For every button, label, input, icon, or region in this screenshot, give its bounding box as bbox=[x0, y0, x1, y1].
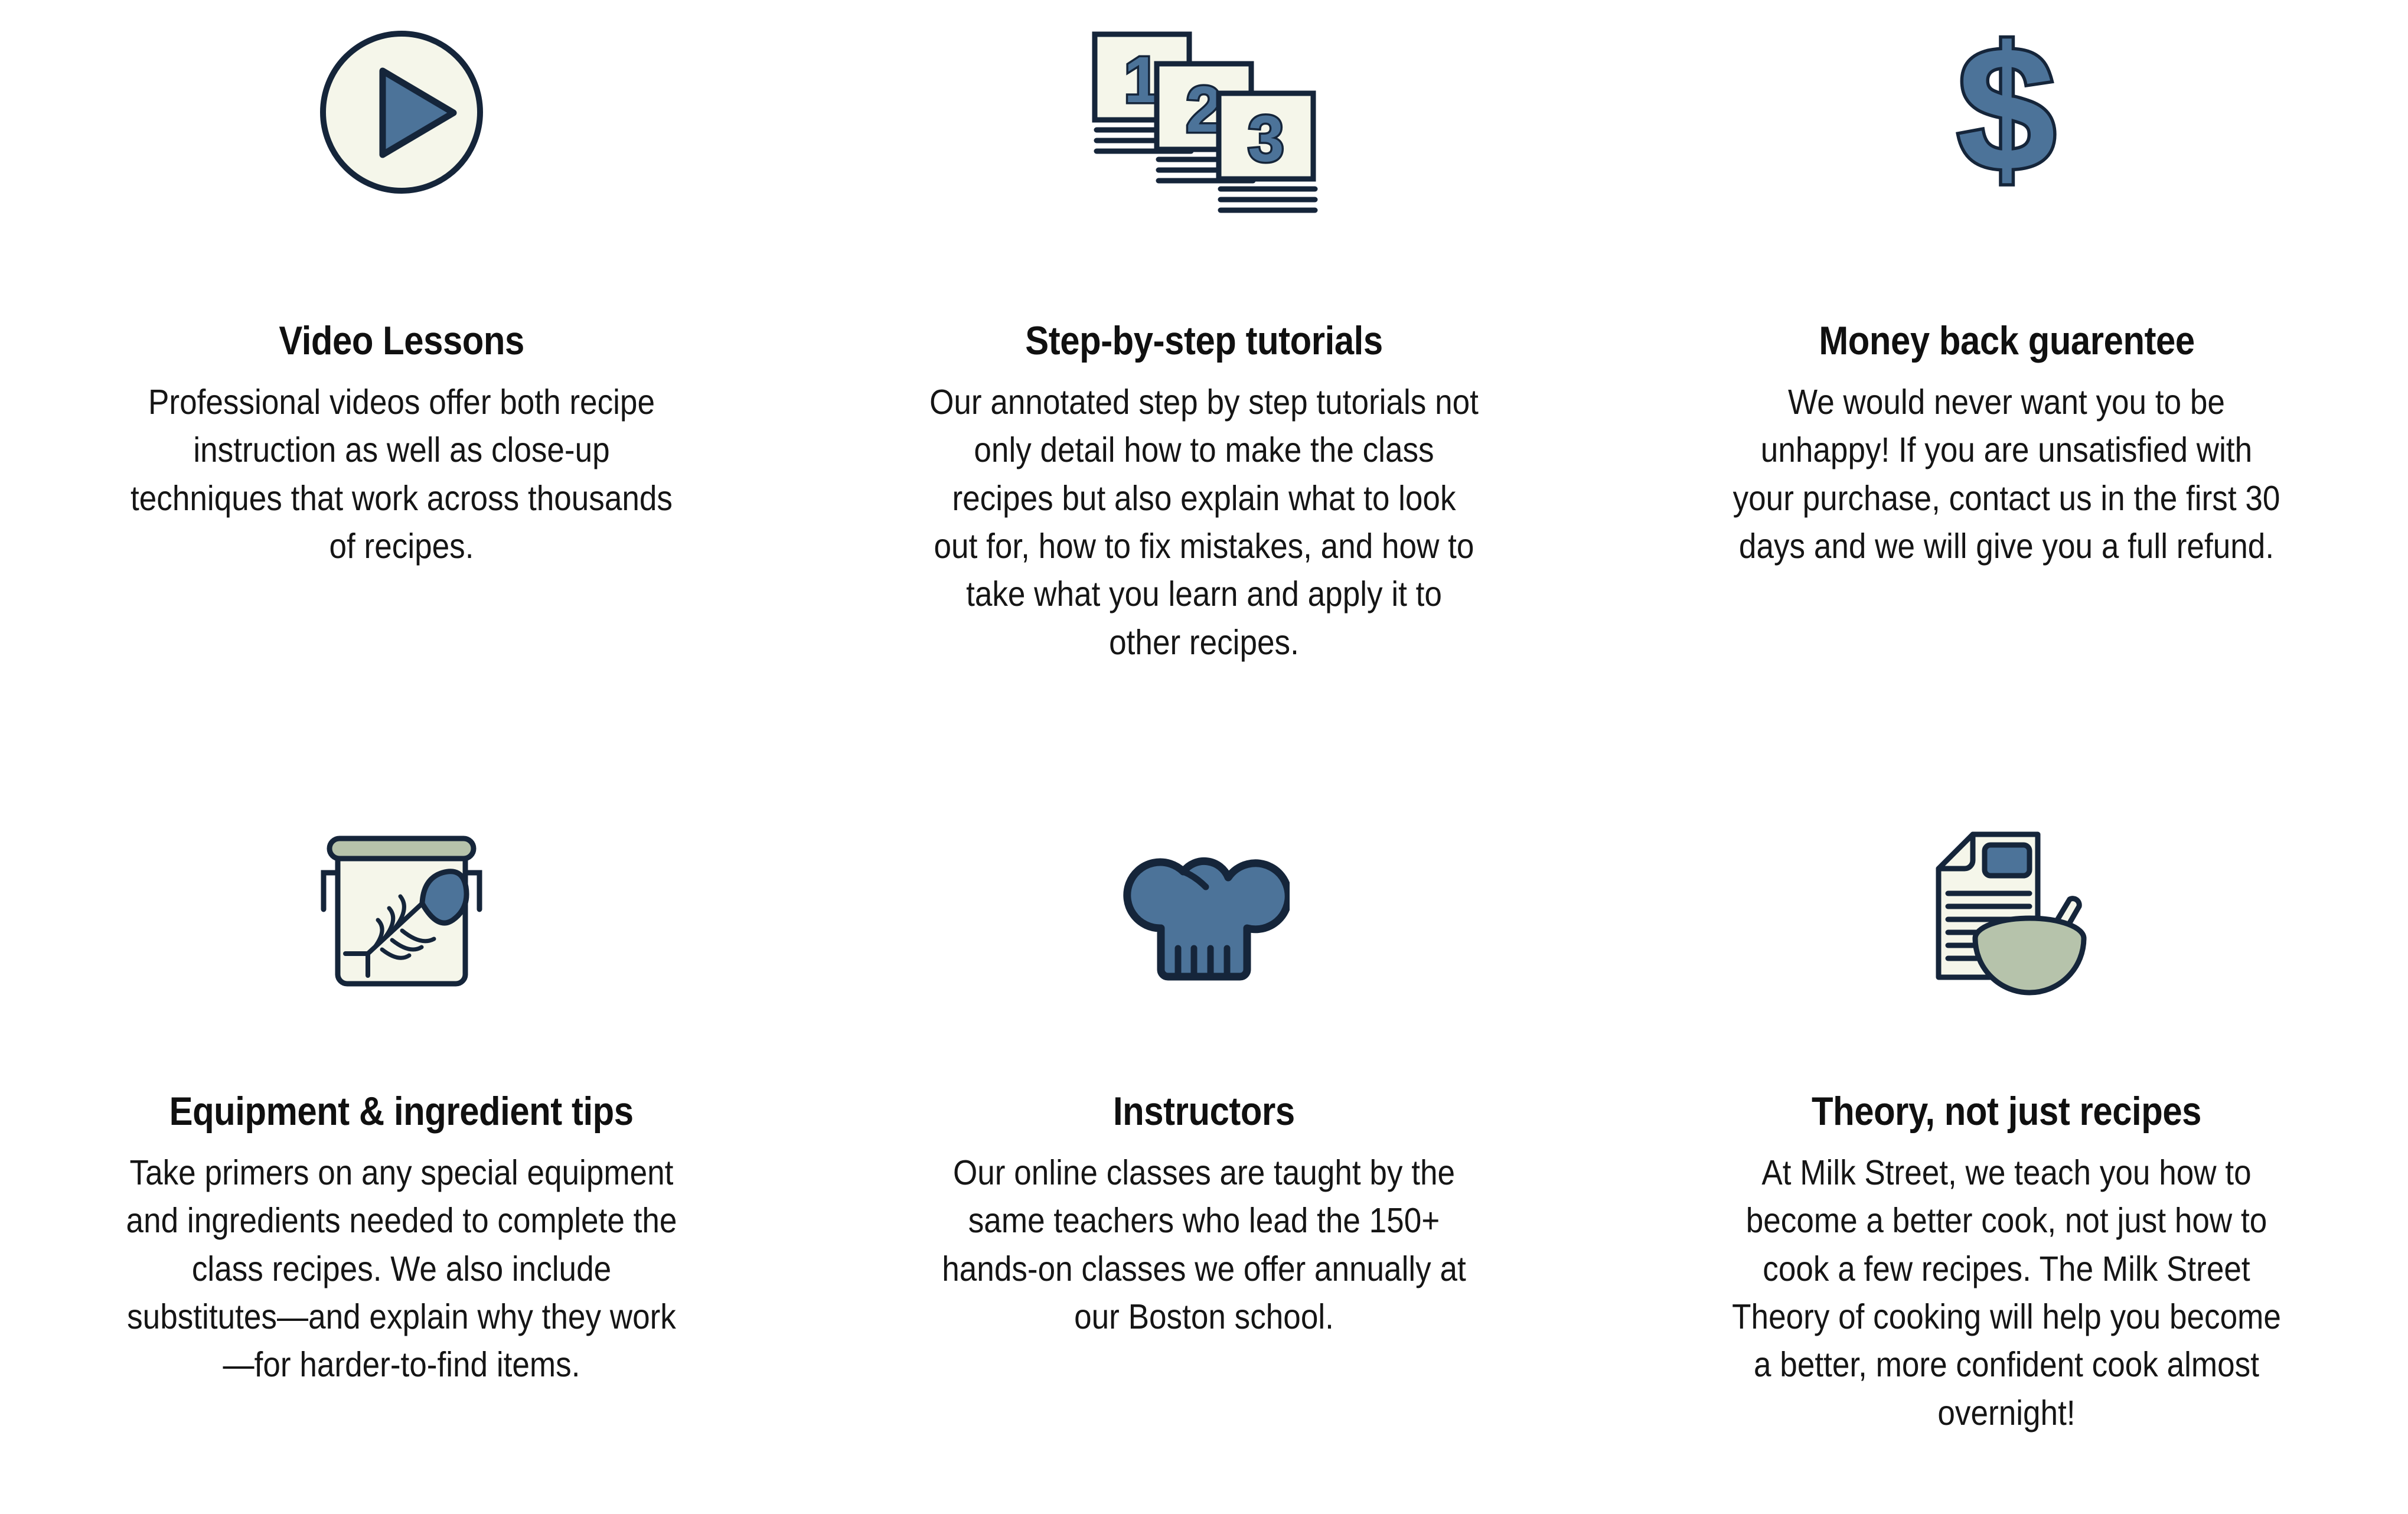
svg-text:$: $ bbox=[1957, 24, 2056, 201]
feature-body: Our online classes are taught by the sam… bbox=[928, 1149, 1480, 1342]
feature-card-step-by-step-tutorials: 1 2 3 bbox=[802, 0, 1605, 768]
icon-slot bbox=[1909, 824, 2104, 1001]
dollar-sign-icon: $ bbox=[1918, 24, 2095, 201]
icon-slot: 1 2 3 bbox=[1074, 24, 1334, 201]
play-button-icon bbox=[313, 24, 490, 201]
feature-body: We would never want you to be unhappy! I… bbox=[1730, 378, 2283, 571]
feature-body: Professional videos offer both recipe in… bbox=[125, 378, 678, 571]
feature-title: Instructors bbox=[1113, 1089, 1295, 1134]
feature-title: Theory, not just recipes bbox=[1812, 1089, 2201, 1134]
feature-card-instructors: Instructors Our online classes are taugh… bbox=[802, 768, 1605, 1514]
feature-title: Video Lessons bbox=[279, 319, 524, 363]
features-grid: Video Lessons Professional videos offer … bbox=[0, 0, 2408, 1514]
pot-with-fish-icon bbox=[301, 827, 502, 998]
feature-card-theory-not-just-recipes: Theory, not just recipes At Milk Street,… bbox=[1606, 768, 2408, 1514]
feature-card-money-back-guarantee: $ Money back guarentee We would never wa… bbox=[1606, 0, 2408, 768]
feature-body: At Milk Street, we teach you how to beco… bbox=[1730, 1149, 2283, 1437]
icon-slot bbox=[1118, 824, 1290, 1001]
feature-body: Our annotated step by step tutorials not… bbox=[928, 378, 1480, 667]
chef-hat-icon bbox=[1118, 833, 1290, 992]
feature-card-equipment-tips: Equipment & ingredient tips Take primers… bbox=[0, 768, 802, 1514]
feature-title: Step-by-step tutorials bbox=[1025, 319, 1382, 363]
icon-slot: $ bbox=[1918, 24, 2095, 201]
icon-slot bbox=[313, 24, 490, 201]
feature-title: Equipment & ingredient tips bbox=[169, 1089, 634, 1134]
feature-body: Take primers on any special equipment an… bbox=[125, 1149, 678, 1389]
recipe-sheet-and-bowl-icon bbox=[1909, 824, 2104, 1001]
feature-title: Money back guarentee bbox=[1819, 319, 2194, 363]
feature-card-video-lessons: Video Lessons Professional videos offer … bbox=[0, 0, 802, 768]
numbered-cards-icon: 1 2 3 bbox=[1074, 24, 1334, 218]
icon-slot bbox=[301, 824, 502, 1001]
card-number-3: 3 bbox=[1248, 103, 1284, 175]
